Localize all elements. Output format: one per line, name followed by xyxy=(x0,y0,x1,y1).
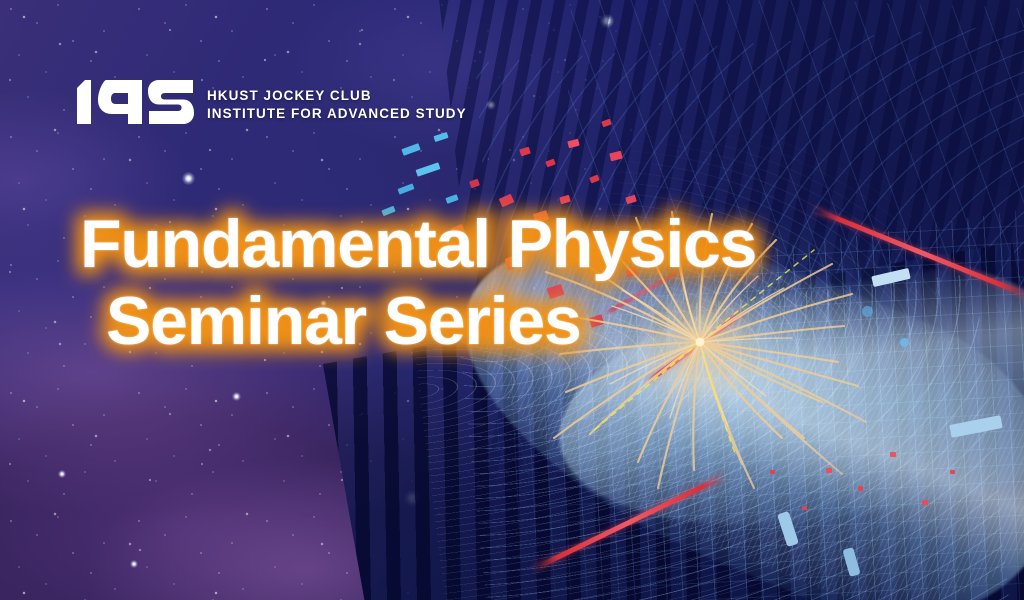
logo-org-line-1: HKUST JOCKEY CLUB xyxy=(207,87,467,105)
title-line-1: Fundamental Physics xyxy=(80,206,756,283)
ias-logo-text: HKUST JOCKEY CLUB INSTITUTE FOR ADVANCED… xyxy=(207,87,467,126)
title-line-2-text: Seminar Series xyxy=(106,283,581,359)
seminar-series-banner: HKUST JOCKEY CLUB INSTITUTE FOR ADVANCED… xyxy=(0,0,1024,600)
ias-monogram-icon xyxy=(76,78,194,126)
title-line-2: Seminar Series xyxy=(80,283,756,360)
ias-logo[interactable]: HKUST JOCKEY CLUB INSTITUTE FOR ADVANCED… xyxy=(76,78,467,126)
logo-org-line-2: INSTITUTE FOR ADVANCED STUDY xyxy=(207,105,467,123)
page-title: Fundamental Physics Seminar Series xyxy=(80,206,756,360)
title-line-1-text: Fundamental Physics xyxy=(80,206,756,282)
